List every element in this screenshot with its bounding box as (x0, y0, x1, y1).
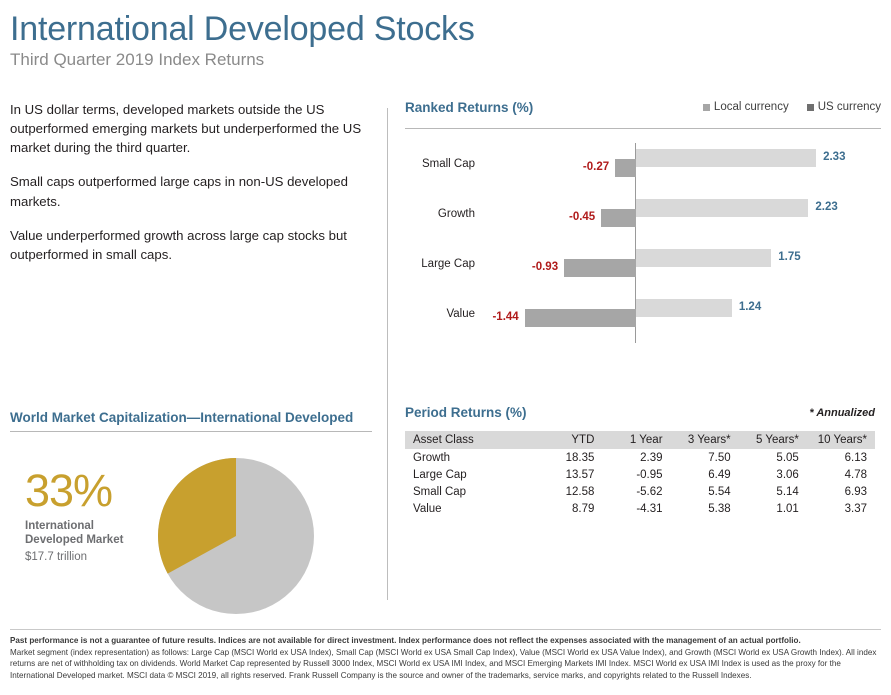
commentary-paragraph: In US dollar terms, developed markets ou… (10, 100, 370, 157)
bar-category-label: Large Cap (405, 258, 475, 270)
market-cap-title: World Market Capitalization—Internationa… (10, 410, 372, 425)
annualized-footnote: * Annualized (809, 407, 875, 419)
column-header-5-years: 5 Years* (739, 431, 807, 449)
legend-item-us-currency: US currency (807, 101, 881, 113)
table-row: Growth18.352.397.505.056.13 (405, 449, 875, 466)
period-returns-section: Period Returns (%) * Annualized Asset Cl… (405, 405, 875, 517)
market-cap-pie-chart (156, 456, 316, 616)
column-header-3-years: 3 Years* (671, 431, 739, 449)
bar-us-currency (636, 299, 732, 317)
bar-value-label-us: 2.23 (815, 201, 837, 213)
cell-asset-class: Small Cap (405, 483, 537, 500)
cell-5-years: 1.01 (739, 500, 807, 517)
footer-disclaimer: Past performance is not a guarantee of f… (10, 629, 881, 681)
cell-ytd: 8.79 (537, 500, 603, 517)
bar-group: Small Cap2.33-0.27 (405, 144, 881, 194)
cell-asset-class: Growth (405, 449, 537, 466)
cell-1-year: -0.95 (602, 466, 670, 483)
bar-category-label: Small Cap (405, 158, 475, 170)
column-header-1-year: 1 Year (602, 431, 670, 449)
cell-5-years: 3.06 (739, 466, 807, 483)
bar-group: Growth2.23-0.45 (405, 194, 881, 244)
content-area: In US dollar terms, developed markets ou… (0, 100, 891, 605)
table-row: Small Cap12.58-5.625.545.146.93 (405, 483, 875, 500)
table-row: Value8.79-4.315.381.013.37 (405, 500, 875, 517)
cell-10-years: 6.13 (807, 449, 875, 466)
column-header-asset-class: Asset Class (405, 431, 537, 449)
cell-5-years: 5.05 (739, 449, 807, 466)
table-row: Large Cap13.57-0.956.493.064.78 (405, 466, 875, 483)
period-returns-header: Period Returns (%) * Annualized (405, 405, 875, 425)
bar-value-label-local: -0.93 (516, 261, 558, 273)
cell-3-years: 7.50 (671, 449, 739, 466)
section-divider (405, 128, 881, 129)
column-header-10-years: 10 Years* (807, 431, 875, 449)
table-header-row: Asset Class YTD 1 Year 3 Years* 5 Years*… (405, 431, 875, 449)
section-divider (10, 431, 372, 432)
bar-local-currency (564, 259, 636, 277)
cell-3-years: 5.38 (671, 500, 739, 517)
bar-us-currency (636, 149, 816, 167)
market-cap-caption-line1: International (25, 519, 150, 533)
cell-asset-class: Large Cap (405, 466, 537, 483)
bar-category-label: Growth (405, 208, 475, 220)
chart-legend: Local currency US currency (703, 101, 881, 113)
page-subtitle: Third Quarter 2019 Index Returns (10, 50, 891, 70)
market-cap-amount: $17.7 trillion (25, 550, 150, 564)
column-header-ytd: YTD (537, 431, 603, 449)
page-title: International Developed Stocks (10, 10, 891, 48)
legend-label-local-currency: Local currency (714, 101, 789, 113)
bar-us-currency (636, 249, 771, 267)
cell-3-years: 5.54 (671, 483, 739, 500)
cell-10-years: 3.37 (807, 500, 875, 517)
bar-value-label-us: 2.33 (823, 151, 845, 163)
footer-line-1: Past performance is not a guarantee of f… (10, 635, 881, 646)
cell-1-year: 2.39 (602, 449, 670, 466)
cell-5-years: 5.14 (739, 483, 807, 500)
bar-us-currency (636, 199, 808, 217)
cell-ytd: 12.58 (537, 483, 603, 500)
bar-value-label-local: -0.45 (553, 211, 595, 223)
bar-local-currency (615, 159, 636, 177)
period-returns-title: Period Returns (%) (405, 405, 875, 420)
market-cap-legend-text: 33% International Developed Market $17.7… (25, 468, 150, 564)
cell-10-years: 4.78 (807, 466, 875, 483)
bar-group: Large Cap1.75-0.93 (405, 244, 881, 294)
commentary-column: In US dollar terms, developed markets ou… (10, 100, 370, 279)
commentary-paragraph: Value underperformed growth across large… (10, 226, 370, 264)
cell-10-years: 6.93 (807, 483, 875, 500)
market-cap-caption-line2: Developed Market (25, 533, 150, 547)
footer-divider (10, 629, 881, 630)
market-cap-body: 33% International Developed Market $17.7… (10, 446, 372, 596)
footer-line-2: Market segment (index representation) as… (10, 647, 881, 681)
bar-local-currency (601, 209, 636, 227)
bar-group: Value1.24-1.44 (405, 294, 881, 344)
cell-ytd: 13.57 (537, 466, 603, 483)
bar-value-label-us: 1.75 (778, 251, 800, 263)
bar-local-currency (525, 309, 636, 327)
cell-1-year: -4.31 (602, 500, 670, 517)
column-divider (387, 108, 388, 600)
cell-3-years: 6.49 (671, 466, 739, 483)
legend-label-us-currency: US currency (818, 101, 881, 113)
legend-item-local-currency: Local currency (703, 101, 789, 113)
ranked-returns-section: Ranked Returns (%) Local currency US cur… (405, 100, 881, 346)
bar-value-label-us: 1.24 (739, 301, 761, 313)
legend-swatch-icon (807, 104, 814, 111)
bar-value-label-local: -0.27 (567, 161, 609, 173)
market-capitalization-section: World Market Capitalization—Internationa… (10, 410, 372, 596)
period-returns-table: Asset Class YTD 1 Year 3 Years* 5 Years*… (405, 431, 875, 517)
ranked-returns-header: Ranked Returns (%) Local currency US cur… (405, 100, 881, 122)
cell-ytd: 18.35 (537, 449, 603, 466)
legend-swatch-icon (703, 104, 710, 111)
page-header: International Developed Stocks Third Qua… (0, 0, 891, 70)
bar-value-label-local: -1.44 (477, 311, 519, 323)
cell-1-year: -5.62 (602, 483, 670, 500)
market-cap-percent: 33% (25, 468, 150, 513)
cell-asset-class: Value (405, 500, 537, 517)
ranked-returns-bar-chart: Small Cap2.33-0.27Growth2.23-0.45Large C… (405, 141, 881, 346)
commentary-paragraph: Small caps outperformed large caps in no… (10, 172, 370, 210)
bar-category-label: Value (405, 308, 475, 320)
